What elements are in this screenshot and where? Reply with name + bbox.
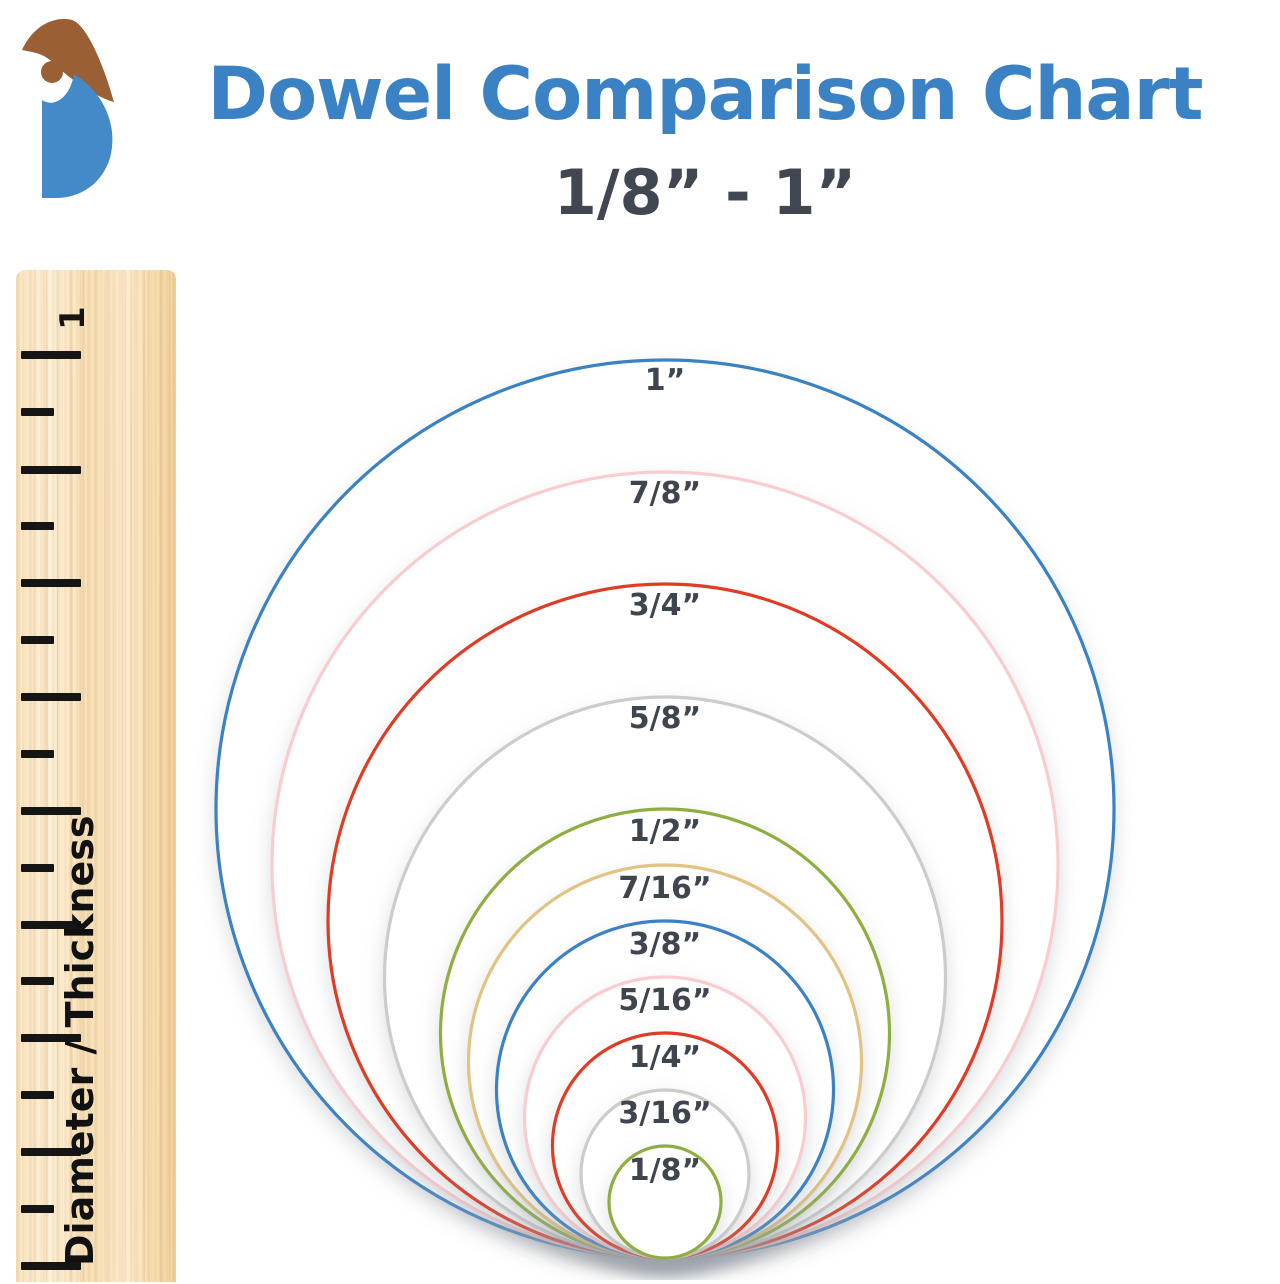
dowel-circle-1-8	[609, 1146, 721, 1258]
bird-eye-icon	[41, 61, 63, 83]
dowel-size-label: 1/4”	[629, 1040, 701, 1075]
dowel-circle-fill	[581, 1090, 749, 1258]
ruler-tick	[21, 466, 81, 474]
page-subtitle: 1/8” - 1”	[150, 162, 1260, 224]
dowel-size-label: 1/2”	[629, 814, 701, 849]
ruler-axis-label: Diameter / Thickness	[58, 816, 102, 1266]
dowel-circle-1-4	[553, 1033, 778, 1258]
wood-grain-streak	[33, 270, 35, 1282]
dowel-circle-fill	[216, 360, 1114, 1258]
wood-grain-streak	[19, 270, 20, 1282]
ruler-tick	[21, 579, 81, 587]
dowel-size-label: 3/8”	[629, 927, 701, 962]
wood-grain-streak	[168, 270, 171, 1282]
dowel-circle-fill	[525, 977, 806, 1258]
dowel-circle-1-1	[216, 360, 1114, 1258]
wood-grain-streak	[122, 270, 123, 1282]
dowel-circle-fill	[497, 921, 834, 1258]
dowel-circle-1-2	[441, 809, 890, 1258]
dowel-circle-fill	[609, 1146, 721, 1258]
dowel-circle-3-16	[581, 1090, 749, 1258]
dowel-circle-7-16	[469, 865, 862, 1258]
dowel-circle-fill	[441, 809, 890, 1258]
ruler-tick	[21, 977, 54, 985]
dowel-size-label: 3/4”	[629, 588, 701, 623]
dowel-bird-logo	[14, 12, 134, 202]
dowel-size-label: 3/16”	[618, 1096, 711, 1131]
dowel-size-label: 1/8”	[629, 1153, 701, 1188]
dowel-circle-3-4	[328, 584, 1002, 1258]
dowel-circle-fill	[469, 865, 862, 1258]
dowel-size-label: 7/16”	[618, 871, 711, 906]
ruler-tick	[21, 750, 54, 758]
dowel-circle-fill	[272, 472, 1058, 1258]
dowel-circle-3-8	[497, 921, 834, 1258]
ruler-tick	[21, 351, 81, 359]
ruler-tick	[21, 693, 81, 701]
dowel-size-label: 5/8”	[629, 701, 701, 736]
wood-grain-streak	[143, 270, 146, 1282]
dowel-circle-5-8	[385, 697, 946, 1258]
dowel-size-label: 7/8”	[629, 476, 701, 511]
bird-beak-icon	[22, 19, 114, 102]
wood-grain-streak	[113, 270, 116, 1282]
dowel-circle-7-8	[272, 472, 1058, 1258]
ruler-tick	[21, 807, 81, 815]
dowel-circle-fill	[553, 1033, 778, 1258]
dowel-circle-fill	[385, 697, 946, 1258]
wood-grain-streak	[130, 270, 132, 1282]
ruler-tick	[21, 522, 54, 530]
ruler-one-inch-label: 1	[53, 306, 93, 330]
ruler-tick	[21, 1091, 54, 1099]
page-title: Dowel Comparison Chart	[150, 58, 1260, 131]
wood-grain-streak	[151, 270, 152, 1282]
wood-grain-streak	[159, 270, 161, 1282]
dowel-circle-5-16	[525, 977, 806, 1258]
ruler-tick	[21, 864, 54, 872]
dowel-circle-fill	[328, 584, 1002, 1258]
wood-grain-streak	[104, 270, 106, 1282]
dowel-size-label: 5/16”	[618, 983, 711, 1018]
ruler-tick	[21, 408, 54, 416]
ruler-tick	[21, 636, 54, 644]
dowel-size-label: 1”	[645, 363, 686, 398]
wood-grain-streak	[45, 270, 48, 1282]
ruler-tick	[21, 1205, 54, 1213]
